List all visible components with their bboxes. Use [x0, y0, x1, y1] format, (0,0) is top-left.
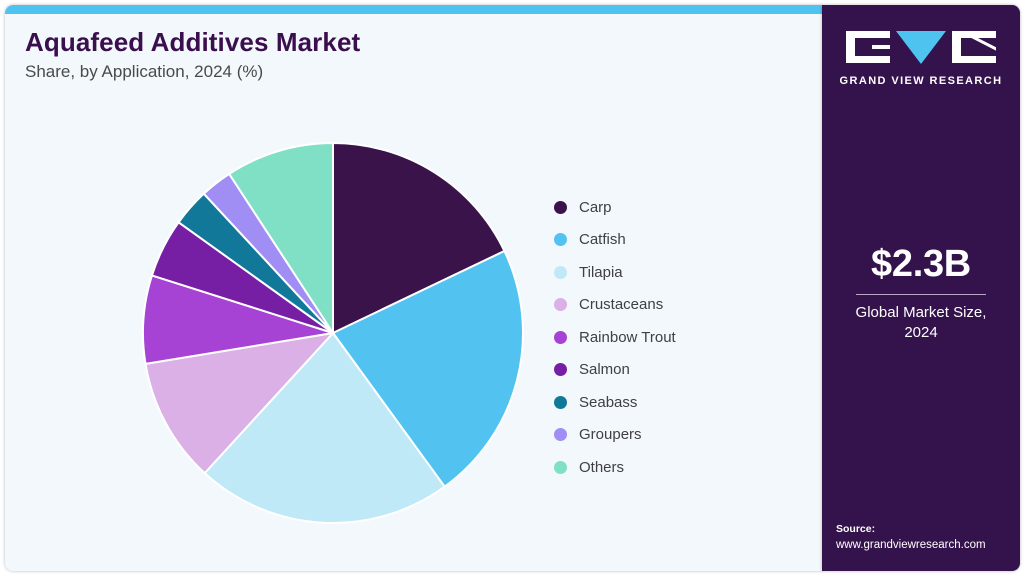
market-size-stat: $2.3B Global Market Size, 2024: [822, 245, 1020, 343]
legend-item: Tilapia: [554, 256, 804, 289]
brand-panel: GRAND VIEW RESEARCH $2.3B Global Market …: [822, 5, 1020, 571]
stat-divider: [856, 294, 986, 295]
legend-item-label: Groupers: [579, 426, 642, 443]
legend-swatch-icon: [554, 298, 567, 311]
legend-item: Others: [554, 451, 804, 484]
legend-item-label: Seabass: [579, 394, 637, 411]
legend-swatch-icon: [554, 396, 567, 409]
legend-swatch-icon: [554, 201, 567, 214]
legend-item-label: Rainbow Trout: [579, 329, 676, 346]
page-subtitle: Share, by Application, 2024 (%): [25, 62, 625, 82]
legend-item: Seabass: [554, 386, 804, 419]
pie-chart: [141, 141, 525, 525]
legend-item-label: Crustaceans: [579, 296, 663, 313]
brand-logo: GRAND VIEW RESEARCH: [822, 31, 1020, 87]
top-accent-bar: [5, 5, 823, 14]
legend-item: Carp: [554, 191, 804, 224]
legend-item: Groupers: [554, 419, 804, 452]
legend-item: Crustaceans: [554, 289, 804, 322]
legend-swatch-icon: [554, 461, 567, 474]
source-block: Source: www.grandviewresearch.com: [836, 522, 986, 553]
legend-item-label: Carp: [579, 199, 612, 216]
legend-swatch-icon: [554, 233, 567, 246]
market-size-caption: Global Market Size, 2024: [822, 303, 1020, 344]
legend-item: Salmon: [554, 354, 804, 387]
source-label: Source:: [836, 522, 986, 537]
logo-letter-g-icon: [846, 31, 890, 63]
legend-swatch-icon: [554, 266, 567, 279]
pie-chart-svg: [141, 141, 525, 525]
title-block: Aquafeed Additives Market Share, by Appl…: [25, 27, 625, 83]
chart-legend: CarpCatfishTilapiaCrustaceansRainbow Tro…: [554, 191, 804, 484]
legend-item-label: Catfish: [579, 231, 626, 248]
legend-swatch-icon: [554, 428, 567, 441]
logo-letter-r-icon: [952, 31, 996, 63]
legend-swatch-icon: [554, 331, 567, 344]
chart-card: Aquafeed Additives Market Share, by Appl…: [5, 5, 823, 571]
logo-triangle-v-icon: [896, 31, 946, 64]
page-title: Aquafeed Additives Market: [25, 27, 625, 57]
infographic-root: Aquafeed Additives Market Share, by Appl…: [0, 0, 1025, 576]
logo-marks: [822, 31, 1020, 67]
legend-swatch-icon: [554, 363, 567, 376]
legend-item-label: Others: [579, 459, 624, 476]
legend-item: Catfish: [554, 224, 804, 257]
legend-item-label: Tilapia: [579, 264, 623, 281]
legend-item: Rainbow Trout: [554, 321, 804, 354]
brand-wordmark: GRAND VIEW RESEARCH: [822, 75, 1020, 87]
market-size-value: $2.3B: [822, 245, 1020, 285]
source-url: www.grandviewresearch.com: [836, 537, 986, 553]
legend-item-label: Salmon: [579, 361, 630, 378]
